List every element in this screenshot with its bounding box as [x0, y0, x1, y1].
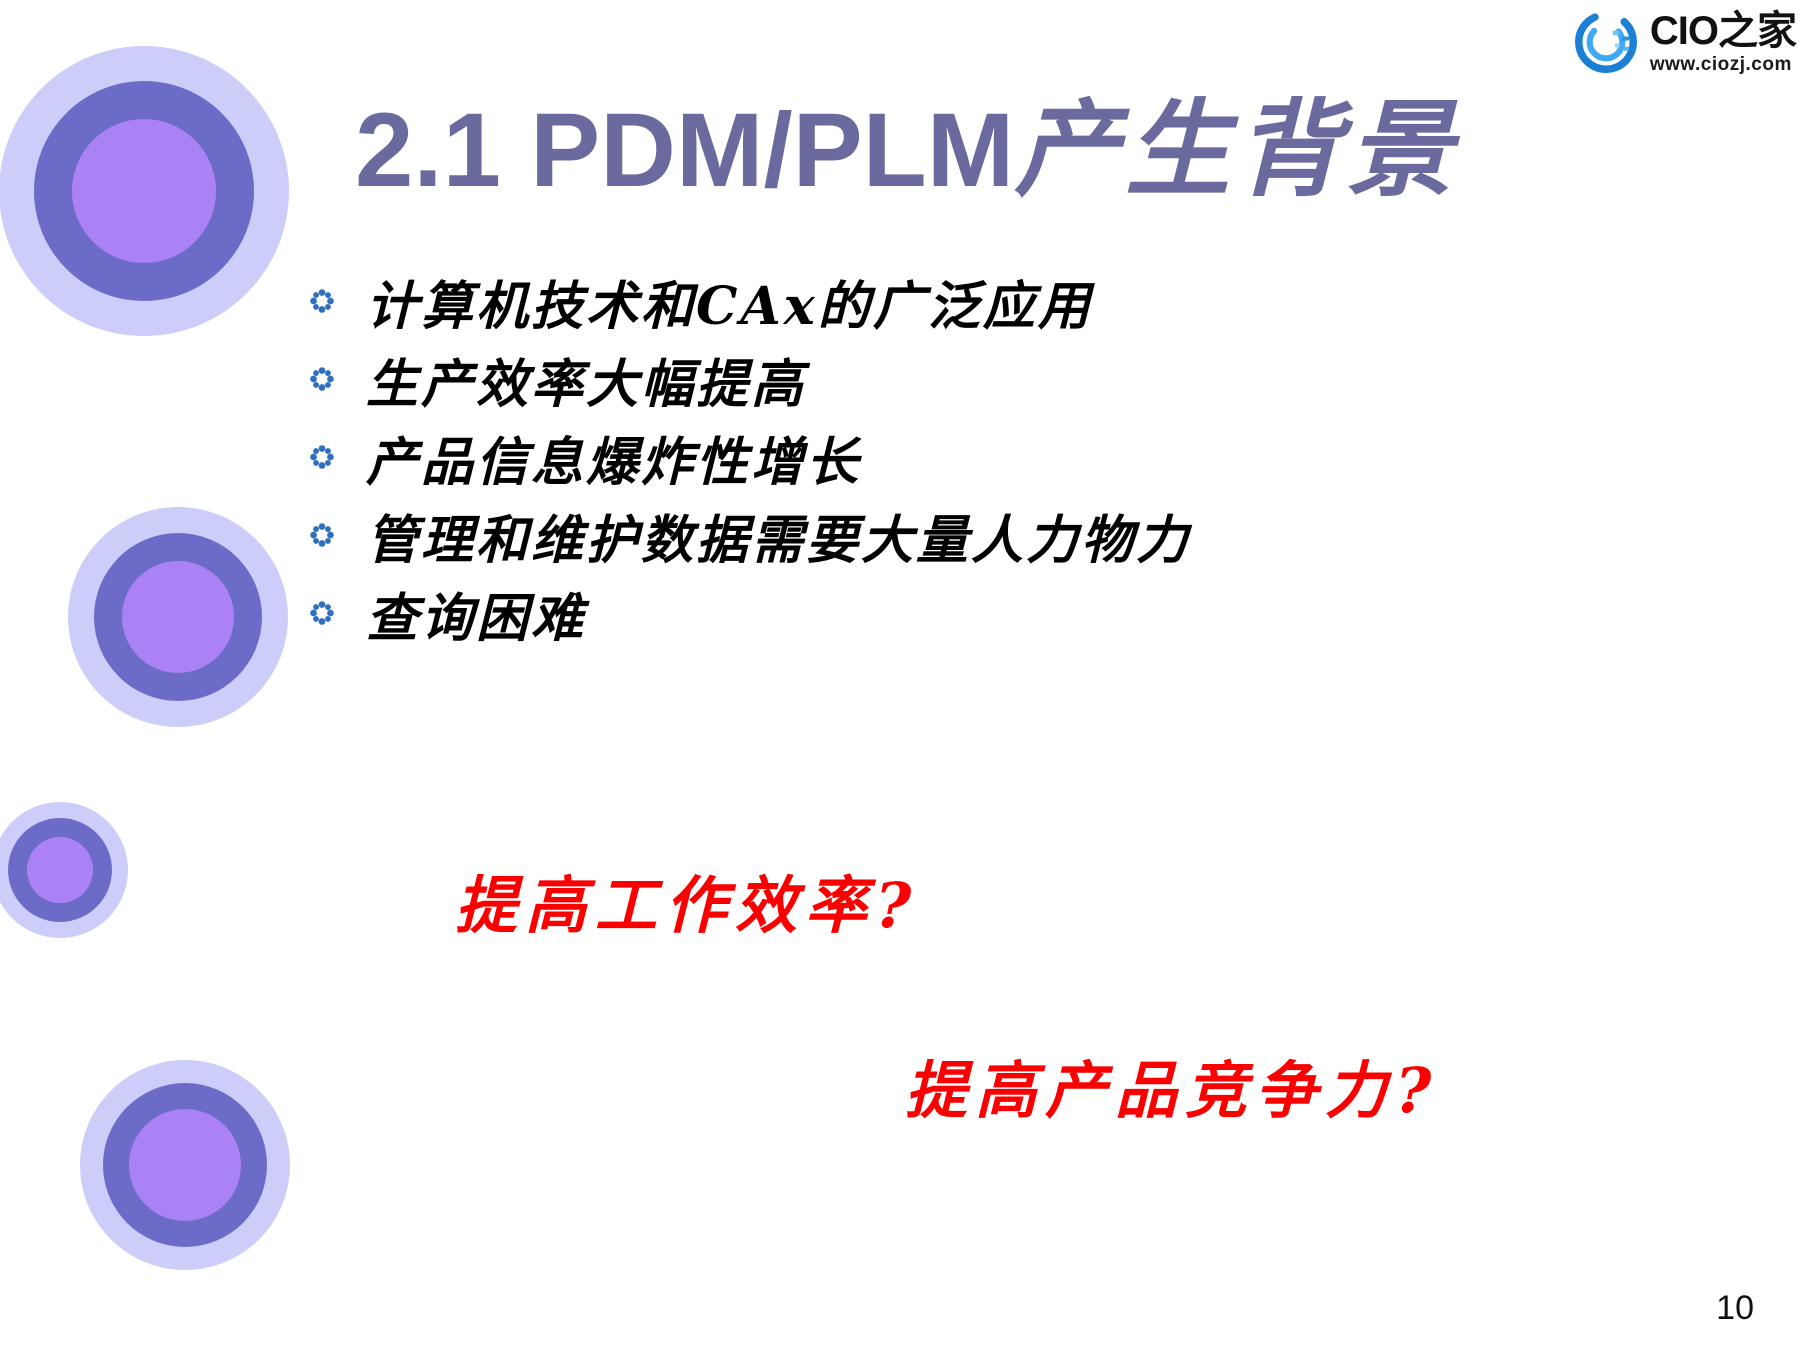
- page-title: 2.1 PDM/PLM产生背景: [355, 92, 1458, 209]
- ring-inner: [122, 561, 234, 673]
- logo-title: CIO之家: [1650, 11, 1796, 51]
- list-item: 产品信息爆炸性增长: [300, 418, 1550, 496]
- circle-cluster-bottom: [80, 1060, 290, 1270]
- ring-inner: [27, 837, 93, 903]
- flower-bullet-icon: [300, 444, 344, 470]
- circle-cluster-small: [0, 802, 128, 938]
- cio-circle-logo-icon: [1572, 8, 1640, 76]
- flower-bullet-icon: [300, 366, 344, 392]
- logo-text: CIO之家 www.ciozj.com: [1650, 11, 1796, 74]
- flower-bullet-icon: [300, 522, 344, 548]
- logo-url: www.ciozj.com: [1650, 55, 1792, 74]
- ring-inner: [72, 119, 216, 263]
- circle-cluster-top: [0, 46, 289, 336]
- cio-logo: CIO之家 www.ciozj.com: [1572, 8, 1796, 76]
- ring-inner: [129, 1109, 241, 1221]
- list-item-label: 产品信息爆炸性增长: [344, 420, 861, 495]
- list-item: 查询困难: [300, 574, 1550, 652]
- page-title-latin: 2.1 PDM/PLM: [355, 92, 1014, 209]
- bullet-list: 计算机技术和CAx的广泛应用: [300, 262, 1550, 652]
- callout-competitiveness: 提高产品竞争力?: [905, 1040, 1439, 1130]
- list-item-label: 计算机技术和CAx的广泛应用: [344, 264, 1093, 339]
- circle-cluster-middle: [68, 507, 288, 727]
- list-item-label: 查询困难: [344, 576, 586, 651]
- page-number: 10: [1716, 1289, 1754, 1328]
- list-item-label: 管理和维护数据需要大量人力物力: [344, 498, 1191, 573]
- list-item: 生产效率大幅提高: [300, 340, 1550, 418]
- list-item: 计算机技术和CAx的广泛应用: [300, 262, 1550, 340]
- slide-canvas: CIO之家 www.ciozj.com 2.1 PDM/PLM产生背景: [0, 0, 1814, 1360]
- callout-efficiency: 提高工作效率?: [455, 855, 919, 945]
- list-item-label: 生产效率大幅提高: [344, 342, 806, 417]
- flower-bullet-icon: [300, 288, 344, 314]
- list-item: 管理和维护数据需要大量人力物力: [300, 496, 1550, 574]
- flower-bullet-icon: [300, 600, 344, 626]
- page-title-cjk: 产生背景: [1014, 87, 1458, 211]
